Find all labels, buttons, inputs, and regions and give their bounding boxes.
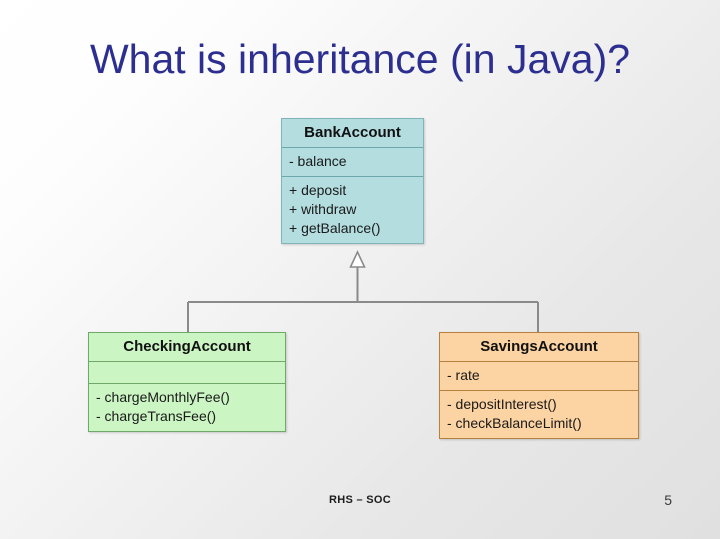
class-name-bankaccount: BankAccount (282, 119, 423, 147)
method-row: + withdraw (289, 200, 417, 219)
slide-canvas: What is inheritance (in Java)? BankAccou… (0, 0, 720, 539)
attributes-compartment-bankaccount: - balance (282, 147, 423, 176)
attribute-row: - rate (447, 366, 632, 385)
method-row: + deposit (289, 181, 417, 200)
method-row: + getBalance() (289, 219, 417, 238)
method-row: - depositInterest() (447, 395, 632, 414)
uml-class-savingsaccount[interactable]: SavingsAccount - rate - depositInterest(… (439, 332, 639, 439)
uml-class-bankaccount[interactable]: BankAccount - balance + deposit + withdr… (281, 118, 424, 244)
methods-compartment-savingsaccount: - depositInterest() - checkBalanceLimit(… (440, 390, 638, 438)
method-row: - chargeMonthlyFee() (96, 388, 279, 407)
attributes-compartment-savingsaccount: - rate (440, 361, 638, 390)
method-row: - chargeTransFee() (96, 407, 279, 426)
methods-compartment-bankaccount: + deposit + withdraw + getBalance() (282, 176, 423, 243)
attribute-row: - balance (289, 152, 417, 171)
class-name-savingsaccount: SavingsAccount (440, 333, 638, 361)
generalization-triangle-icon (351, 252, 365, 267)
class-name-checkingaccount: CheckingAccount (89, 333, 285, 361)
footer-label: RHS – SOC (0, 494, 720, 506)
attributes-compartment-checkingaccount (89, 361, 285, 383)
methods-compartment-checkingaccount: - chargeMonthlyFee() - chargeTransFee() (89, 383, 285, 431)
page-title: What is inheritance (in Java)? (0, 34, 720, 84)
uml-class-checkingaccount[interactable]: CheckingAccount - chargeMonthlyFee() - c… (88, 332, 286, 432)
method-row: - checkBalanceLimit() (447, 414, 632, 433)
page-number: 5 (664, 492, 672, 508)
